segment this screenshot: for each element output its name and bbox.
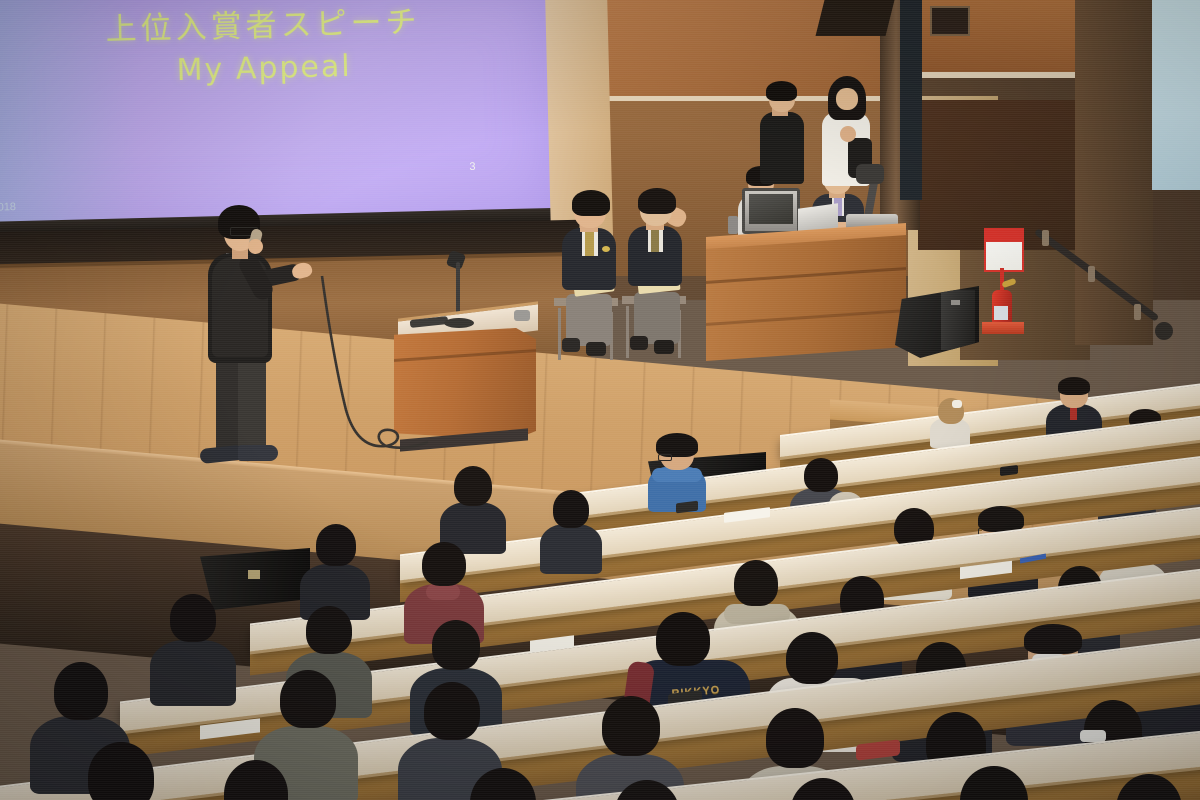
attendee-head: [790, 778, 856, 800]
chair-leg: [558, 308, 561, 360]
attendee-dark-e: [150, 594, 236, 702]
staff-jacket: [760, 112, 804, 184]
student-shoe: [654, 340, 674, 354]
attendee-head: [734, 560, 778, 606]
presenter-hand-on-mic: [248, 239, 263, 254]
attendee-bottom-4: [584, 780, 708, 800]
attendee-bottom-5: [760, 778, 884, 800]
ceiling-beam: [816, 0, 895, 36]
slide-title-english: My Appeal: [0, 44, 549, 93]
speaker-badge: [951, 300, 960, 305]
monitor-screen: [749, 194, 793, 224]
attendee-head: [766, 708, 824, 768]
red-tie: [1070, 406, 1077, 420]
attendee-head: [306, 606, 352, 654]
attendee-head: [786, 632, 838, 684]
staff-standing-left: [758, 84, 806, 184]
student-shoe: [586, 342, 606, 356]
attendee-head: [614, 780, 680, 800]
attendee-head: [470, 768, 536, 800]
attendee-head: [553, 490, 589, 528]
attendee-bottom-1: [60, 742, 180, 800]
student-hair: [572, 190, 610, 216]
attendee-head: [170, 594, 216, 642]
slide-footer-date: /2018: [0, 201, 16, 214]
desk-front-panel: [706, 235, 906, 361]
chair-leg: [626, 306, 629, 358]
slide-title-japanese: 上位入賞者スピーチ: [0, 0, 548, 52]
lectern-item-clip[interactable]: [514, 310, 530, 321]
boom-camera-icon: [856, 164, 884, 184]
attendee-dark-d: [300, 524, 370, 616]
student-tie: [585, 230, 594, 256]
audience-seating: RIKKYO FOOTBALL RIKKYO: [0, 370, 1200, 800]
attendee-head: [1116, 774, 1182, 800]
attendee-hair: [978, 506, 1024, 532]
attendee-bottom-2: [196, 760, 314, 800]
fire-extinguisher-sign: [984, 228, 1024, 272]
staff-hair: [766, 81, 797, 101]
fire-extinguisher[interactable]: [980, 228, 1028, 334]
lecture-hall-photo: 上位入賞者スピーチ My Appeal 3 /2018: [0, 0, 1200, 800]
attendee-head: [424, 682, 480, 740]
attendee-dark-c2: [540, 490, 602, 570]
student-hair: [638, 188, 676, 214]
attendee-head: [804, 458, 838, 492]
attendee-head: [316, 524, 356, 566]
desktop-monitor[interactable]: [742, 188, 800, 234]
handrail-post: [1134, 304, 1141, 320]
attendee-head: [454, 466, 492, 506]
speaker-grill: [941, 290, 975, 350]
attendee-hair: [1058, 377, 1090, 395]
attendee-dark-suit-c: [440, 466, 506, 550]
av-control-desk[interactable]: [706, 230, 906, 360]
student-shoe: [562, 338, 580, 352]
extinguisher-label: [994, 306, 1008, 320]
attendee-head: [280, 670, 336, 728]
attendee-head: [960, 766, 1028, 800]
slide-number: 3: [469, 161, 475, 173]
student-shoe: [630, 336, 648, 350]
attendee-torso: [150, 640, 236, 706]
attendee-head: [656, 612, 710, 666]
attendee-head: [422, 542, 466, 586]
projection-screen: 上位入賞者スピーチ My Appeal 3 /2018: [0, 0, 553, 227]
handrail-post: [1088, 266, 1095, 282]
desk-mug: [728, 216, 738, 234]
attendee-head: [602, 696, 660, 756]
attendee-bottom-6: [930, 766, 1056, 800]
staff-hand-at-chin: [840, 126, 856, 142]
mic-base: [444, 318, 474, 328]
wall-handrail[interactable]: [1030, 200, 1190, 330]
attendee-head: [224, 760, 288, 800]
attendee-bottom-3: [440, 768, 564, 800]
sign-red-band: [986, 230, 1022, 242]
attendee-hair: [1024, 624, 1082, 654]
hair-clip-icon: [952, 400, 962, 408]
attendee-head: [432, 620, 480, 670]
glass-door[interactable]: [900, 0, 922, 200]
wall-vent-icon: [930, 6, 970, 36]
student-tie: [651, 228, 659, 252]
eyeglasses-icon: [658, 454, 672, 461]
attendee-blue-hoodie: [648, 436, 706, 508]
handrail-end-cap: [1155, 322, 1173, 340]
light-panel: [1152, 0, 1200, 190]
attendee-woman-light-top: [930, 398, 970, 444]
attendee-head: [54, 662, 108, 720]
extinguisher-base: [982, 322, 1024, 334]
lapel-pin-icon: [602, 246, 610, 252]
hood: [652, 468, 702, 482]
attendee-bottom-7: [1090, 774, 1200, 800]
attendee-head: [88, 742, 154, 800]
collar: [426, 584, 460, 600]
attendee-torso: [540, 524, 602, 574]
seated-student-right: [616, 186, 696, 364]
staff-face-front: [836, 88, 858, 110]
handrail-post: [1042, 230, 1049, 246]
